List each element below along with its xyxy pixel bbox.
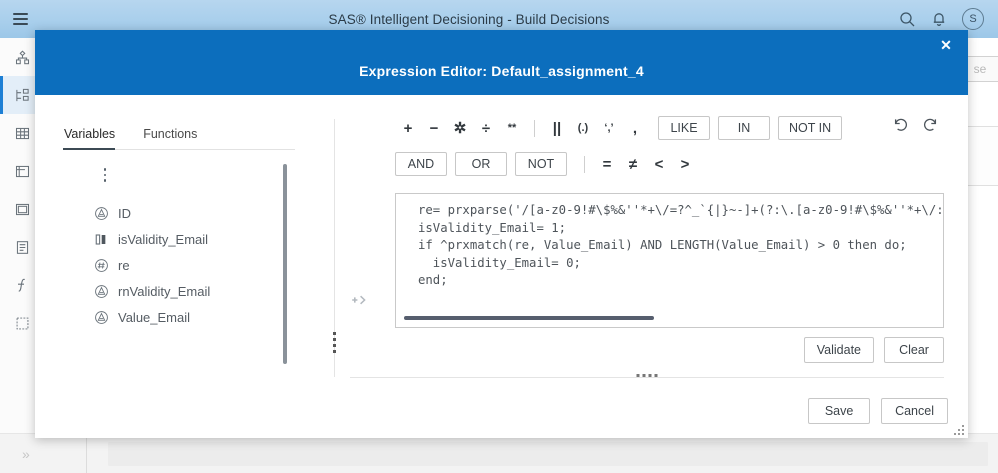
operator-toolbar: + − ✲ ÷ ** || (.) ‘,’ , LIKE IN NOT IN	[395, 113, 944, 185]
page-title: SAS® Intelligent Decisioning - Build Dec…	[40, 12, 898, 27]
header-actions: S	[898, 8, 998, 30]
expand-chevron-icon[interactable]: »	[22, 446, 30, 462]
boolean-type-icon	[94, 232, 109, 247]
operator-row-2: AND OR NOT = ≠ < >	[395, 149, 944, 179]
decision-flow-icon	[15, 50, 30, 65]
operator-and-button[interactable]: AND	[395, 152, 447, 176]
variables-list: ID isValidity_Email	[63, 200, 295, 330]
operator-comma[interactable]: ,	[622, 115, 648, 141]
character-type-icon	[94, 310, 109, 325]
screen: se SAS® Intelligent Decisioning - Build …	[0, 0, 998, 473]
avatar-initial: S	[969, 13, 976, 25]
variables-scrollbar[interactable]	[283, 164, 287, 364]
expression-actions: Validate Clear	[804, 337, 944, 363]
model-icon	[15, 316, 30, 331]
operator-multiply[interactable]: ✲	[447, 115, 473, 141]
close-icon[interactable]: ✕	[937, 36, 955, 54]
list-item-label: rnValidity_Email	[118, 284, 210, 299]
expression-editor-dialog: ✕ Expression Editor: Default_assignment_…	[35, 30, 968, 438]
list-item[interactable]: ID	[63, 200, 295, 226]
list-item-label: ID	[118, 206, 131, 221]
bottom-toolbar: »	[0, 433, 998, 473]
operator-plus[interactable]: +	[395, 115, 421, 141]
tab-variables-label: Variables	[64, 127, 115, 141]
expression-horizontal-scrollbar[interactable]	[404, 316, 654, 320]
search-icon[interactable]	[898, 10, 916, 28]
expression-code-editor[interactable]: re= prxparse('/[a-z0-9!#\$%&''*+\/=?^_`{…	[395, 193, 944, 328]
hamburger-icon[interactable]	[0, 0, 40, 38]
character-type-icon	[94, 284, 109, 299]
list-item[interactable]: re	[63, 252, 295, 278]
operator-greater-than[interactable]: >	[672, 151, 698, 177]
undo-icon[interactable]	[891, 115, 909, 133]
tab-functions-label: Functions	[143, 127, 197, 141]
operator-concat[interactable]: ||	[544, 115, 570, 141]
redo-icon[interactable]	[922, 115, 940, 133]
panel-resize-grip[interactable]	[331, 327, 338, 357]
save-button[interactable]: Save	[808, 398, 870, 424]
operator-power[interactable]: **	[499, 115, 525, 141]
document-icon	[15, 240, 30, 255]
dialog-resize-handle[interactable]	[953, 424, 964, 435]
operator-separator-2	[584, 156, 585, 173]
operator-less-than[interactable]: <	[646, 151, 672, 177]
operator-divide[interactable]: ÷	[473, 115, 499, 141]
operator-not-in-button[interactable]: NOT IN	[778, 116, 842, 140]
dialog-titlebar: ✕ Expression Editor: Default_assignment_…	[35, 30, 968, 95]
operator-in-button[interactable]: IN	[718, 116, 770, 140]
insert-variable-icon[interactable]	[350, 291, 368, 309]
panel-tabs: Variables Functions	[63, 123, 295, 150]
dialog-body: Variables Functions	[35, 95, 968, 438]
dialog-footer: Save Cancel	[808, 398, 948, 424]
operator-minus[interactable]: −	[421, 115, 447, 141]
horizontal-splitter-grip[interactable]	[637, 374, 658, 377]
character-type-icon	[94, 206, 109, 221]
list-item[interactable]: Value_Email	[63, 304, 295, 330]
operator-separator-1	[534, 120, 535, 137]
background-close-label: se	[974, 62, 987, 76]
list-item[interactable]: isValidity_Email	[63, 226, 295, 252]
build-decisions-icon	[15, 88, 30, 103]
operator-quote[interactable]: ‘,’	[596, 115, 622, 141]
bottom-field[interactable]	[108, 442, 988, 466]
list-item-label: re	[118, 258, 130, 273]
clear-button[interactable]: Clear	[884, 337, 944, 363]
horizontal-splitter	[350, 377, 944, 378]
operator-like-button[interactable]: LIKE	[658, 116, 710, 140]
bottom-divider	[86, 434, 87, 473]
operator-row-1: + − ✲ ÷ ** || (.) ‘,’ , LIKE IN NOT IN	[395, 113, 944, 143]
operator-not-equals[interactable]: ≠	[620, 151, 646, 177]
validate-button[interactable]: Validate	[804, 337, 874, 363]
variables-scroll-area: ID isValidity_Email	[63, 164, 295, 379]
variables-panel: Variables Functions	[63, 123, 295, 373]
operator-not-button[interactable]: NOT	[515, 152, 567, 176]
expression-code-text: re= prxparse('/[a-z0-9!#\$%&''*+\/=?^_`{…	[418, 202, 943, 290]
bell-icon[interactable]	[930, 10, 948, 28]
operator-parentheses[interactable]: (.)	[570, 115, 596, 141]
list-item-label: isValidity_Email	[118, 232, 208, 247]
rule-set-icon	[15, 164, 30, 179]
operator-equals[interactable]: =	[594, 151, 620, 177]
history-actions	[891, 115, 940, 133]
dialog-title: Expression Editor: Default_assignment_4	[35, 63, 968, 79]
variables-options-menu[interactable]	[97, 164, 113, 186]
table-icon	[15, 126, 30, 141]
avatar[interactable]: S	[962, 8, 984, 30]
numeric-type-icon	[94, 258, 109, 273]
tab-variables[interactable]: Variables	[63, 123, 126, 149]
list-item[interactable]: rnValidity_Email	[63, 278, 295, 304]
tab-functions[interactable]: Functions	[142, 123, 208, 149]
cancel-button[interactable]: Cancel	[881, 398, 948, 424]
operator-or-button[interactable]: OR	[455, 152, 507, 176]
treatment-icon	[15, 202, 30, 217]
function-icon	[15, 278, 30, 293]
list-item-label: Value_Email	[118, 310, 190, 325]
